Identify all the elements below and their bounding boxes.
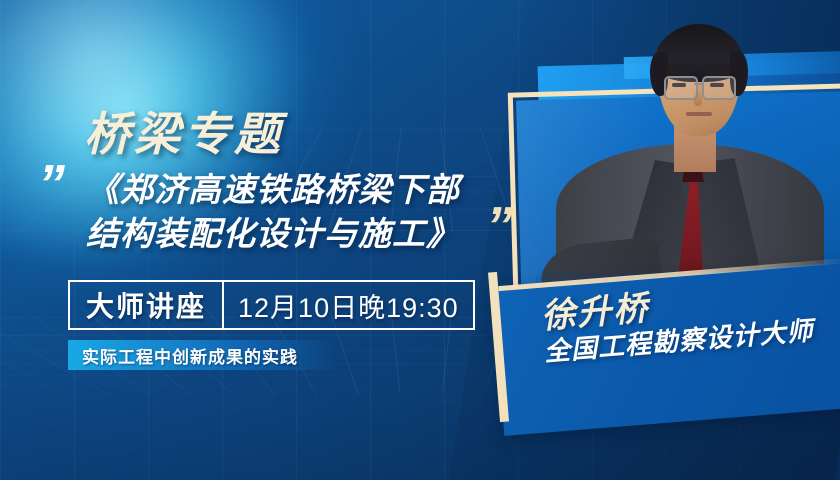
eyeglasses-lens-right xyxy=(702,76,736,100)
mouth xyxy=(686,112,712,116)
lecture-subject-line-2: 结构装配化设计与施工》 xyxy=(86,212,496,256)
tagline-text: 实际工程中创新成果的实践 xyxy=(68,343,298,368)
eyeglasses-lens-left xyxy=(664,76,698,100)
eyeglasses-bridge xyxy=(694,83,702,85)
tagline-bar: 实际工程中创新成果的实践 xyxy=(68,340,336,370)
lecture-poster: 徐升桥 全国工程勘察设计大师 桥梁专题 ” ” 《郑济高速铁路桥梁下部 结构装配… xyxy=(0,0,840,480)
lecture-badge: 大师讲座 12月10日晚19:30 xyxy=(68,280,475,330)
nose xyxy=(694,90,702,106)
quote-open-icon: ” xyxy=(38,168,61,200)
lecture-subject-line-1: 《郑济高速铁路桥梁下部 xyxy=(86,168,496,212)
badge-datetime: 12月10日晚19:30 xyxy=(224,282,473,328)
page-title: 桥梁专题 xyxy=(84,98,284,164)
lecture-subject: 《郑济高速铁路桥梁下部 结构装配化设计与施工》 xyxy=(86,168,496,255)
badge-label: 大师讲座 xyxy=(70,282,222,328)
